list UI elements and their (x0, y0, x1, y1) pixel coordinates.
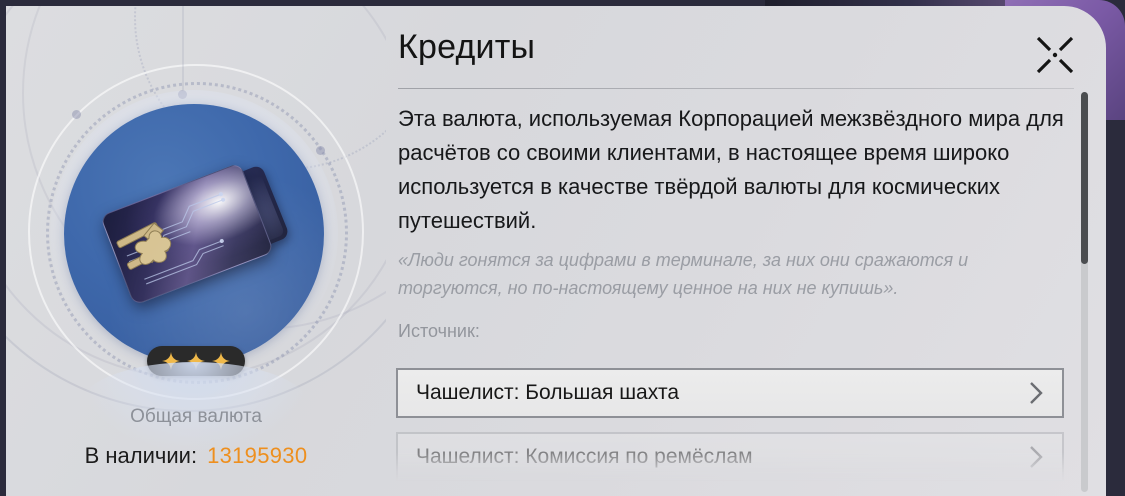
item-detail-pane: Кредиты Эта валюта, используемая Корпора… (386, 6, 1106, 496)
item-description: Эта валюта, используемая Корпорацией меж… (398, 102, 1066, 238)
item-icon-circle (64, 104, 324, 364)
source-list: Чашелист: Большая шахта Чашелист: Комисс… (396, 368, 1064, 496)
title-divider (398, 88, 1074, 89)
chevron-right-icon (1028, 380, 1044, 406)
source-list-item[interactable]: Чашелист: Большая шахта (396, 368, 1064, 418)
credit-cards-icon (94, 154, 294, 314)
close-button[interactable] (1032, 32, 1078, 78)
chevron-right-icon (1028, 444, 1044, 470)
scrollbar-thumb[interactable] (1081, 92, 1088, 264)
owned-label: В наличии: (85, 443, 197, 468)
card-back-shape (148, 164, 290, 282)
page-title: Кредиты (398, 28, 535, 67)
owned-value: 13195930 (207, 443, 307, 468)
card-front-shape (100, 162, 274, 305)
source-label: Источник: (398, 321, 480, 342)
decorative-node-dot (72, 110, 81, 119)
decorative-node-dot (316, 146, 325, 155)
item-detail-window: Общая валюта В наличии:13195930 Кредиты (0, 0, 1125, 496)
circuit-pattern-icon (101, 164, 273, 305)
ribbon-bow-icon (109, 201, 204, 290)
source-list-item[interactable]: Чашелист: Комиссия по ремёслам (396, 432, 1064, 482)
decorative-line (182, 6, 184, 90)
owned-amount-row: В наличии:13195930 (6, 443, 386, 469)
window-panel: Общая валюта В наличии:13195930 Кредиты (6, 6, 1106, 496)
item-preview-pane: Общая валюта В наличии:13195930 (6, 6, 386, 496)
currency-type-label: Общая валюта (6, 406, 386, 428)
source-item-label: Чашелист: Большая шахта (416, 381, 1028, 405)
item-quote: «Люди гонятся за цифрами в терминале, за… (398, 246, 1070, 302)
close-x-icon (1032, 32, 1078, 78)
source-item-label: Чашелист: Комиссия по ремёслам (416, 445, 1028, 469)
scrollbar-track[interactable] (1081, 92, 1088, 492)
